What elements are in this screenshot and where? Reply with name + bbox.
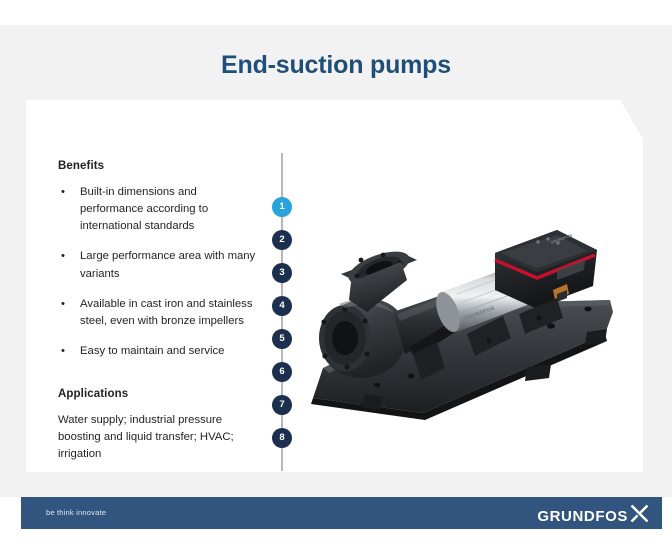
product-image-pump: GRUNDFOS GRUNDFOS bbox=[305, 208, 635, 423]
footer-bar: be think innovate GRUNDFOS bbox=[21, 497, 662, 529]
bullet-dot-icon: • bbox=[61, 343, 65, 360]
timeline-node-4[interactable]: 4 bbox=[272, 296, 292, 316]
applications-heading: Applications bbox=[58, 388, 258, 400]
bullet-dot-icon: • bbox=[61, 184, 65, 201]
grundfos-x-icon bbox=[630, 504, 649, 528]
benefits-list: • Built-in dimensions and performance ac… bbox=[58, 184, 258, 360]
list-item: • Available in cast iron and stainless s… bbox=[58, 296, 258, 330]
benefits-section: Benefits • Built-in dimensions and perfo… bbox=[58, 160, 258, 360]
list-item: • Built-in dimensions and performance ac… bbox=[58, 184, 258, 235]
bullet-dot-icon: • bbox=[61, 248, 65, 265]
timeline-node-1[interactable]: 1 bbox=[272, 197, 292, 217]
list-item-label: Easy to maintain and service bbox=[80, 345, 224, 357]
list-item: • Large performance area with many varia… bbox=[58, 248, 258, 282]
bullet-dot-icon: • bbox=[61, 296, 65, 313]
applications-section: Applications Water supply; industrial pr… bbox=[58, 388, 258, 463]
list-item-label: Built-in dimensions and performance acco… bbox=[80, 186, 208, 232]
list-item-label: Available in cast iron and stainless ste… bbox=[80, 298, 252, 327]
timeline-node-8[interactable]: 8 bbox=[272, 428, 292, 448]
footer-tagline: be think innovate bbox=[46, 508, 106, 517]
footer-logo: GRUNDFOS bbox=[537, 504, 649, 528]
timeline-node-3[interactable]: 3 bbox=[272, 263, 292, 283]
step-timeline: 1 2 3 4 5 6 7 8 bbox=[274, 153, 290, 471]
page-title: End-suction pumps bbox=[0, 51, 672, 80]
list-item-label: Large performance area with many variant… bbox=[80, 250, 255, 279]
timeline-node-2[interactable]: 2 bbox=[272, 230, 292, 250]
list-item: • Easy to maintain and service bbox=[58, 343, 258, 360]
pump-volute-casing bbox=[319, 299, 406, 378]
footer-logo-text: GRUNDFOS bbox=[537, 508, 628, 525]
slide-canvas: End-suction pumps Benefits • Built-in di… bbox=[0, 25, 672, 497]
pump-discharge-flange bbox=[341, 245, 417, 312]
timeline-node-5[interactable]: 5 bbox=[272, 329, 292, 349]
benefits-heading: Benefits bbox=[58, 160, 258, 172]
applications-body: Water supply; industrial pressure boosti… bbox=[58, 412, 258, 463]
timeline-node-6[interactable]: 6 bbox=[272, 362, 292, 382]
pump-control-box: GRUNDFOS bbox=[495, 230, 597, 308]
timeline-node-7[interactable]: 7 bbox=[272, 395, 292, 415]
